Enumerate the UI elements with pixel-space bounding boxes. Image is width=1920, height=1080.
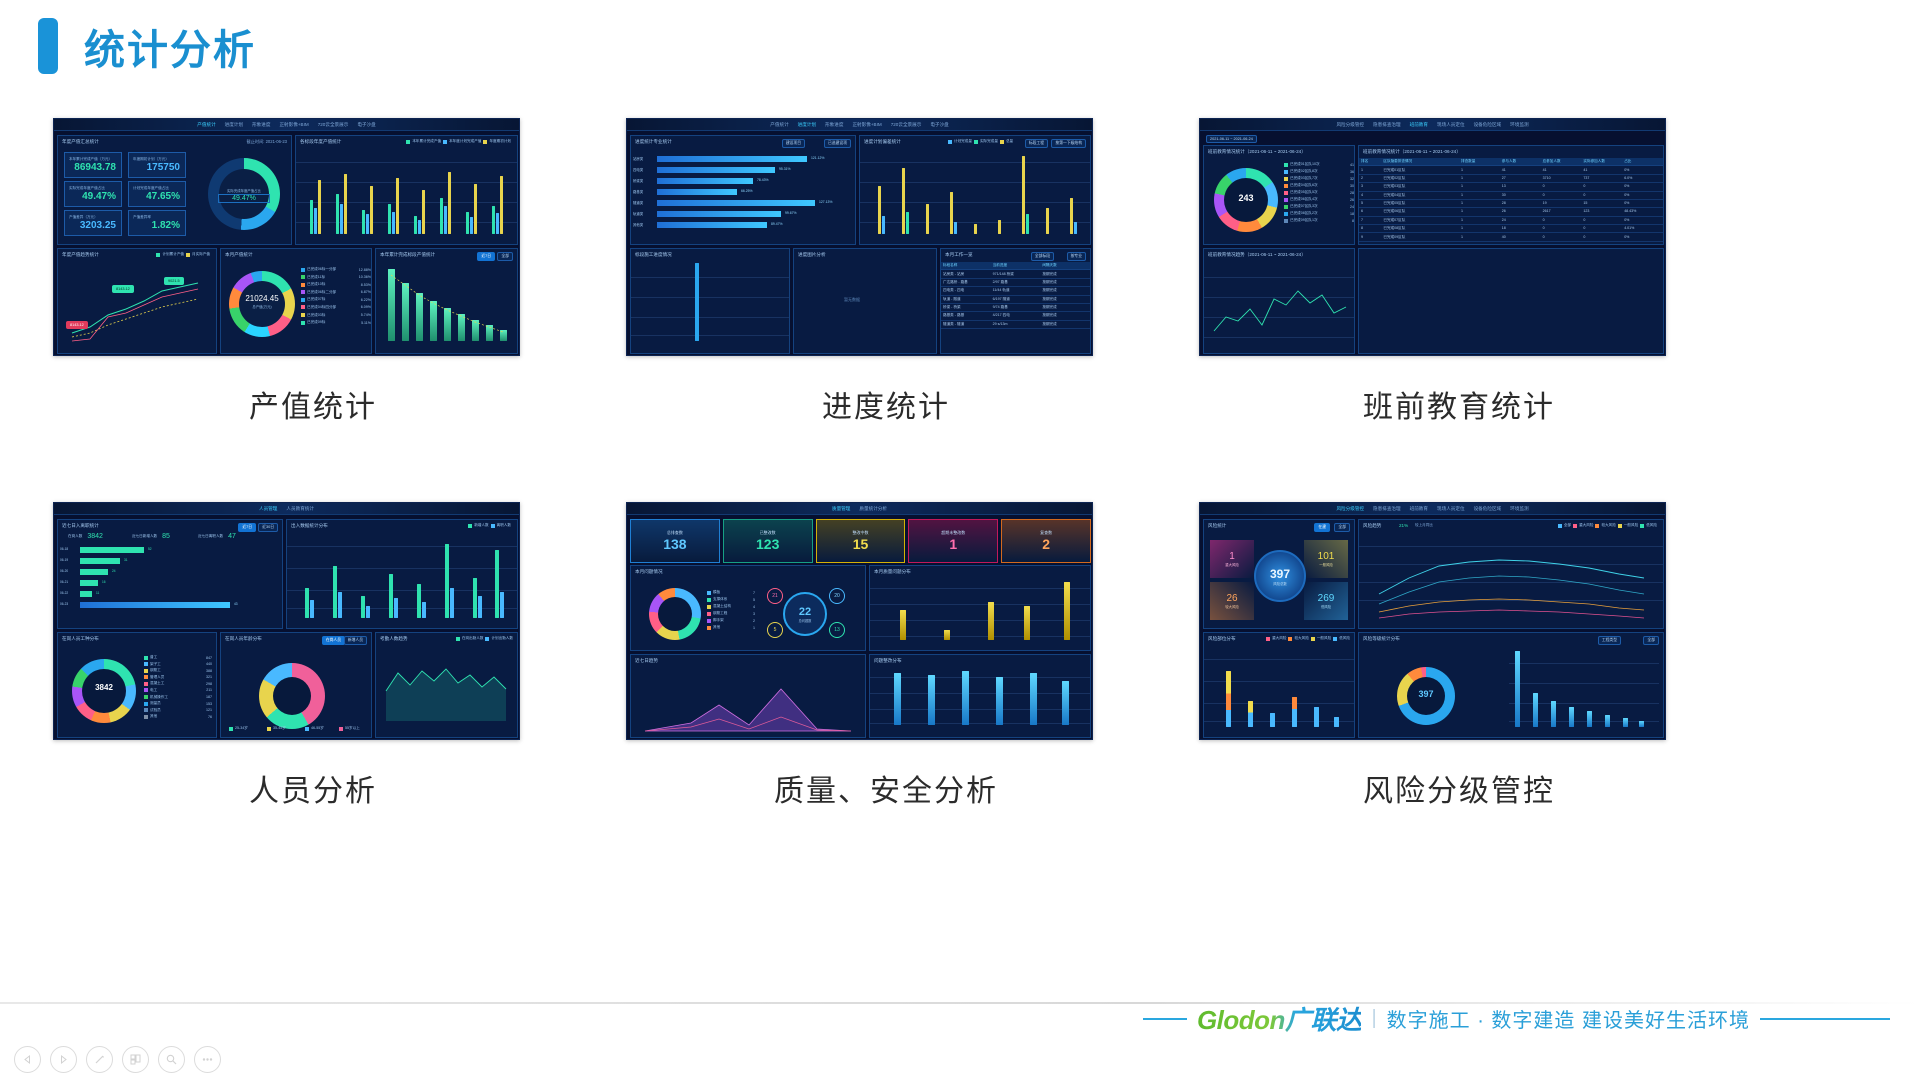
panel-subtitle: 截止时间: 2021-06-23: [247, 139, 288, 145]
panel-rectification: 问题整改分布: [869, 654, 1091, 738]
nav-item[interactable]: 质量统计分析: [859, 506, 887, 512]
nav-item[interactable]: 现场人员定位: [1437, 122, 1465, 128]
panel-education-table: 班前教育情况统计（2021-06-11 ~ 2021-06-24） 排名区队隐患…: [1358, 145, 1664, 245]
nav-item[interactable]: 720云全景展示: [318, 122, 349, 128]
panel-title: 各标段年度产值统计: [300, 139, 341, 145]
kpi-card: 产值差异（万元） 3203.25: [64, 210, 122, 236]
panel-title: 班前教育情况统计（2021-06-11 ~ 2021-06-24）: [1363, 149, 1461, 155]
panel-title: 在岗人员年龄分布: [225, 636, 262, 642]
panel-risk-position: 风险部位分布 重大风险较大风险一般风险低风险: [1203, 632, 1355, 738]
table-row: 广达路桥 - 路基2/97 路基按期完成: [941, 279, 1090, 287]
line-chart: [376, 651, 519, 731]
kpi-card: 总排查数 138: [630, 519, 720, 563]
thumbnail-risk-control[interactable]: 风险分级管控 隐患排查治理 班前教育 现场人员定位 设备危险区域 环境监测 风险…: [1199, 502, 1666, 740]
donut-label: 实际完成年度产值占比: [218, 188, 270, 193]
title-accent-bar: [38, 18, 58, 74]
nav-item[interactable]: 形象进度: [252, 122, 270, 128]
satellite-badge: 21: [767, 588, 783, 604]
date-range-picker[interactable]: 2021-06-11 ~ 2021-06-24: [1206, 135, 1257, 143]
panel-title: 出入数据统计分布: [291, 523, 328, 529]
panel-inout-distribution: 出入数据统计分布 新增人数离职人数: [286, 519, 518, 629]
nav-item[interactable]: 形象进度: [825, 122, 843, 128]
nav-item[interactable]: 班前教育: [1410, 506, 1428, 512]
card-caption: 进度统计: [626, 382, 1146, 426]
card-caption: 产值统计: [53, 382, 573, 426]
kpi-card: 整改中数 15: [816, 519, 906, 563]
panel-month-worklist: 本月工作一览 全部标段 按专业 标段名称当前进度间隔天数 站房类 - 站房971…: [940, 248, 1091, 354]
panel-issue-distribution: 本月质量问题分布: [869, 565, 1091, 651]
panel-title: 风险趋势: [1363, 523, 1381, 529]
bar-group: [386, 265, 514, 341]
page-title: 统计分析: [38, 16, 256, 76]
dashboard-row-1: 产值统计 进度计划 形象进度 正射影像+BIM 720云全景展示 电子沙盘 年度…: [0, 118, 1920, 426]
panel-title: 问题整改分布: [874, 658, 902, 664]
risk-block: 1 重大风险: [1210, 540, 1254, 578]
thumbnail-quality-safety[interactable]: 质量管理 质量统计分析 总排查数 138 已整改数 123 整改中数 15: [626, 502, 1093, 740]
panel-title: 风险部位分布: [1208, 636, 1236, 642]
nav-item[interactable]: 人员管理: [259, 506, 277, 512]
kpi-card: 已整改数 123: [723, 519, 813, 563]
panel-education-stats: 班前教育情况统计（2021-06-11 ~ 2021-06-24） 243 已完…: [1203, 145, 1355, 245]
legend-list: 已完成01区队10次41 已完成02区队8次36 已完成03区队7次32 已完成…: [1284, 162, 1354, 223]
panel-accumulated-output: 本年累计完成标段产值统计 近7日 全部: [375, 248, 518, 354]
filter-select[interactable]: 全部标段: [1031, 252, 1054, 261]
dash-nav[interactable]: 风险分级管控 隐患排查治理 班前教育 现场人员定位 设备危险区域 环境监测: [1200, 503, 1665, 515]
bar-group: [886, 667, 1084, 725]
filter-chip[interactable]: 新增人员: [344, 636, 367, 645]
filter-chip[interactable]: 近7日: [477, 252, 495, 261]
risk-block: 101 一般风险: [1304, 540, 1348, 578]
kpi-card-row: 总排查数 138 已整改数 123 整改中数 15 超期未整改数 1: [630, 519, 1091, 563]
panel-output-trend: 年度产值趋势统计 计划累计产值月实际产值 8143.12 8143.12 902…: [57, 248, 217, 354]
panel-title: 风险等级统计分布: [1363, 636, 1400, 642]
donut-hole: [658, 597, 692, 631]
donut-legend-list: 已完成06标一分部12.88% 已完成11标10.36% 已完成10标8.53%…: [301, 267, 371, 325]
panel-education-detail: [1358, 248, 1664, 354]
nav-item[interactable]: 环境监测: [1510, 506, 1528, 512]
table-row: 轨道 - 隧道6/197 隧道按期完成: [941, 296, 1090, 304]
nav-item[interactable]: 进度计划: [798, 122, 816, 128]
kpi-card: 年度期初计划（万元） 175750: [128, 152, 186, 178]
card-caption: 班前教育统计: [1199, 382, 1719, 426]
panel-title: 进度计划偏差统计: [864, 139, 901, 145]
bar-group: [884, 578, 1084, 640]
panel-progress-photos: 进度图片分析 暂无数据: [793, 248, 937, 354]
filter-chip[interactable]: 近30日: [258, 523, 278, 532]
panel-title: 本月工作一览: [945, 252, 973, 258]
nav-item[interactable]: 设备危险区域: [1474, 506, 1502, 512]
panel-progress-by-discipline: 进度统计专业统计 建设项目 已选建设项 站房类121.12% 四电类95.31%…: [630, 135, 856, 245]
card-risk-control[interactable]: 风险分级管控 隐患排查治理 班前教育 现场人员定位 设备危险区域 环境监测 风险…: [1199, 502, 1719, 810]
dash-nav[interactable]: 人员管理 人员教育统计: [54, 503, 519, 515]
panel-month-output: 本月产值统计 21024.45 总产值(万元) 已完成06标一分部12.88% …: [220, 248, 372, 354]
card-quality-safety[interactable]: 质量管理 质量统计分析 总排查数 138 已整改数 123 整改中数 15: [626, 502, 1146, 810]
nav-item[interactable]: 隐患排查治理: [1373, 506, 1401, 512]
panel-title: 标段施工进度情况: [635, 252, 672, 258]
nav-item[interactable]: 环境监测: [1510, 122, 1528, 128]
panel-age-distribution: 在岗人员年龄分布 在岗人员 新增人员 25-34岁 35-45岁 46-55岁 …: [220, 632, 372, 738]
table-row: 站房类 - 站房971/148 桥梁按期完成: [941, 270, 1090, 278]
card-caption: 质量、安全分析: [626, 766, 1146, 810]
thumbnail-progress[interactable]: 产值统计 进度计划 形象进度 正射影像+BIM 720云全景展示 电子沙盘 进度…: [626, 118, 1093, 356]
filter-select[interactable]: 工程类型: [1598, 636, 1621, 645]
kpi-card: 复查数 2: [1001, 519, 1091, 563]
filter-select[interactable]: 按专业: [1067, 252, 1086, 261]
legend-list: 模板7 支撑体系5 混凝土结构4 钢筋工程3 脚手架2 其他1: [707, 590, 755, 630]
panel-annual-output: 年度产值汇总统计 截止时间: 2021-06-23 本年累计完成产值（万元） 8…: [57, 135, 292, 245]
satellite-badge: 13: [829, 622, 845, 638]
grid-icon[interactable]: [122, 1046, 149, 1073]
education-table: 排名区队隐患排查情况排查数量参与人数应参加人数实际参加人数占比 1已完成01区队…: [1359, 158, 1663, 242]
thumbnail-output-value[interactable]: 产值统计 进度计划 形象进度 正射影像+BIM 720云全景展示 电子沙盘 年度…: [53, 118, 520, 356]
empty-state: 暂无数据: [844, 297, 860, 303]
line-chart: [1204, 269, 1356, 349]
kpi-card: 超期未整改数 1: [908, 519, 998, 563]
satellite-badge: 20: [829, 588, 845, 604]
table-row: 6已完成06区队126261712348.43%: [1359, 208, 1663, 216]
panel-title: 在岗人员工种分布: [62, 636, 99, 642]
panel-risk-level-distribution: 风险等级统计分布 工程类型 全部 397: [1358, 632, 1664, 738]
panel-title: 班前教育情况趋势（2021-06-11 ~ 2021-06-24）: [1208, 252, 1306, 258]
gauge: 22 总问题数: [783, 592, 827, 636]
footer-brand: Glodon广联达 | 数字施工 · 数字建造 建设美好生活环境: [1143, 1000, 1890, 1037]
bar-group: [299, 534, 513, 618]
filter-chip[interactable]: 在建: [1314, 523, 1330, 532]
panel-risk-trend: 风险趋势 21% 较上月同比 全部重大风险较大风险一般风险低风险: [1358, 519, 1664, 629]
nav-item[interactable]: 设备危险区域: [1474, 122, 1502, 128]
panel-title: 年度产值趋势统计: [62, 252, 99, 258]
panel-title: 班前教育情况统计（2021-06-11 ~ 2021-06-24）: [1208, 149, 1306, 155]
dash-nav[interactable]: 质量管理 质量统计分析: [627, 503, 1092, 515]
footer-dash-left: [1143, 1018, 1187, 1020]
nav-item[interactable]: 产值统计: [197, 122, 215, 128]
table-row: 路基类 - 路基4/217 四电按期完成: [941, 312, 1090, 320]
risk-block: 269 低风险: [1304, 582, 1348, 620]
nav-item[interactable]: 风险分级管控: [1336, 506, 1364, 512]
panel-education-trend: 班前教育情况趋势（2021-06-11 ~ 2021-06-24）: [1203, 248, 1355, 354]
nav-item[interactable]: 正射影像+BIM: [852, 122, 881, 128]
nav-item[interactable]: 电子沙盘: [930, 122, 948, 128]
panel-trade-distribution: 在岗人员工种分布 3842 普工847 架子工440 钢筋工388 管理人员32…: [57, 632, 217, 738]
panel-title: 考勤人数趋势: [380, 636, 408, 642]
panel-title: 本月产值统计: [225, 252, 253, 258]
donut-center-value: 21024.45: [229, 294, 295, 303]
table-row: 5已完成05区队12819150%: [1359, 200, 1663, 208]
panel-title: 本月问题情况: [635, 569, 663, 575]
donut-center-value: 397: [1397, 689, 1455, 699]
table-row: 桥梁 - 桥梁9/74 路基按期完成: [941, 304, 1090, 312]
bar-group: [874, 150, 1086, 234]
filter-select[interactable]: 按第一下级结构: [1051, 139, 1086, 148]
card-progress[interactable]: 产值统计 进度计划 形象进度 正射影像+BIM 720云全景展示 电子沙盘 进度…: [626, 118, 1146, 426]
card-caption: 人员分析: [53, 766, 573, 810]
pen-icon[interactable]: [86, 1046, 113, 1073]
dashboard-grid: 产值统计 进度计划 形象进度 正射影像+BIM 720云全景展示 电子沙盘 年度…: [0, 118, 1920, 810]
dash-nav[interactable]: 产值统计 进度计划 形象进度 正射影像+BIM 720云全景展示 电子沙盘: [627, 119, 1092, 131]
line-chart: [58, 267, 218, 347]
nav-item[interactable]: 现场人员定位: [1437, 506, 1465, 512]
panel-title: 进度图片分析: [798, 252, 826, 258]
nav-item[interactable]: 进度计划: [225, 122, 243, 128]
nav-item[interactable]: 班前教育: [1410, 122, 1428, 128]
donut-value: 49.47%: [218, 194, 270, 203]
trend-tag: 8143.12: [66, 321, 88, 329]
footer-dash-right: [1760, 1018, 1890, 1020]
kpi-card: 计划完成年度产值占比 47.65%: [128, 181, 186, 207]
hbar-group: 站房类121.12% 四电类95.31% 桥梁类78.43% 路基类66.25%…: [657, 154, 853, 231]
card-preshift-education[interactable]: 风险分级管控 隐患排查治理 班前教育 现场人员定位 设备危险区域 环境监测 20…: [1199, 118, 1719, 426]
nav-item[interactable]: 正射影像+BIM: [279, 122, 308, 128]
kpi-card: 实际完成年度产值占比 49.47%: [64, 181, 122, 207]
satellite-badge: 5: [767, 622, 783, 638]
more-options-icon[interactable]: [194, 1046, 221, 1073]
donut-center-value: 243: [1214, 193, 1278, 203]
filter-chip[interactable]: 在岗人员: [322, 636, 345, 645]
panel-title: 本月质量问题分布: [874, 569, 911, 575]
panel-segment-progress: 标段施工进度情况: [630, 248, 790, 354]
panel-title: 年度产值汇总统计: [62, 139, 99, 145]
donut-hole: [273, 677, 311, 715]
card-personnel[interactable]: 人员管理 人员教育统计 近七日入离职统计 近7日 近30日 在岗人数3842 近…: [53, 502, 573, 810]
nav-item[interactable]: 风险分级管控: [1336, 122, 1364, 128]
panel-title: 进度统计专业统计: [635, 139, 672, 145]
panel-title: 本年累计完成标段产值统计: [380, 252, 435, 258]
nav-item[interactable]: 电子沙盘: [357, 122, 375, 128]
bar-group: [304, 152, 514, 234]
table-row: 8已完成08区队118004.01%: [1359, 225, 1663, 233]
panel-risk-stats: 风险统计 在建 全部 1 重大风险 101 一般风险 26 较大风险: [1203, 519, 1355, 629]
panel-title: 风险统计: [1208, 523, 1226, 529]
table-row: 1已完成01区队14141410%: [1359, 166, 1663, 174]
panel-title: 近七日趋势: [635, 658, 658, 664]
filter-select[interactable]: 建设项目: [782, 139, 805, 148]
nav-item[interactable]: 720云全景展示: [891, 122, 922, 128]
trend-tag: 9021.5: [164, 277, 184, 285]
thumbnail-preshift-education[interactable]: 风险分级管控 隐患排查治理 班前教育 现场人员定位 设备危险区域 环境监测 20…: [1199, 118, 1666, 356]
kpi-card: 本年累计完成产值（万元） 86943.78: [64, 152, 122, 178]
glodon-logo: Glodon广联达: [1197, 1000, 1362, 1037]
filter-chip[interactable]: 全部: [1334, 523, 1350, 532]
kpi-card: 产值差异率 1.82%: [128, 210, 186, 236]
panel-7day-trend: 近七日趋势: [630, 654, 866, 738]
panel-attendance-trend: 考勤人数趋势 在岗出勤人数计划出勤人数: [375, 632, 518, 738]
dashboard-row-2: 人员管理 人员教育统计 近七日入离职统计 近7日 近30日 在岗人数3842 近…: [0, 502, 1920, 810]
panel-month-issues: 本月问题情况 模板7 支撑体系5 混凝土结构4 钢筋工程3 脚手架2 其他1 2…: [630, 565, 866, 651]
filter-select[interactable]: 已选建设项: [824, 139, 851, 148]
filter-chip[interactable]: 近7日: [238, 523, 256, 532]
nav-item[interactable]: 质量管理: [832, 506, 850, 512]
table-row: 4已完成04区队130000%: [1359, 192, 1663, 200]
legend-list: 普工847 架子工440 钢筋工388 管理人员321 混凝土工298 电工21…: [144, 655, 212, 719]
donut-center-label: 总产值(万元): [229, 304, 295, 309]
search-icon[interactable]: [158, 1046, 185, 1073]
trend-badge: 21%: [1399, 523, 1408, 528]
footer-separator: |: [1371, 1007, 1376, 1030]
filter-select[interactable]: 全部: [1643, 636, 1659, 645]
filter-select[interactable]: 标段工程: [1025, 139, 1048, 148]
table-row: 2已完成02区队12737107376.0%: [1359, 175, 1663, 183]
bar-group: [1216, 645, 1352, 727]
prev-slide-icon[interactable]: [14, 1046, 41, 1073]
next-slide-icon[interactable]: [50, 1046, 77, 1073]
hbar-group: 06-1852 06-1931 06-2024 06-2116 06-2211 …: [80, 546, 280, 612]
filter-chip[interactable]: 全部: [497, 252, 513, 261]
card-output-value[interactable]: 产值统计 进度计划 形象进度 正射影像+BIM 720云全景展示 电子沙盘 年度…: [53, 118, 573, 426]
dash-nav[interactable]: 产值统计 进度计划 形象进度 正射影像+BIM 720云全景展示 电子沙盘: [54, 119, 519, 131]
table-row: 3已完成03区队113000%: [1359, 183, 1663, 191]
gauge: 397 风险总数: [1254, 550, 1306, 602]
table-row: 隧道类 - 隧道29 s/13m按期完成: [941, 321, 1090, 329]
bottom-toolbar[interactable]: [14, 1046, 221, 1073]
table-row: 7已完成07区队124000%: [1359, 217, 1663, 225]
area-chart: [631, 671, 867, 737]
nav-item[interactable]: 人员教育统计: [286, 506, 314, 512]
trend-tag: 8143.12: [112, 285, 134, 293]
footer-slogan: 数字施工 · 数字建造 建设美好生活环境: [1387, 1004, 1750, 1033]
nav-item[interactable]: 隐患排查治理: [1373, 122, 1401, 128]
table-row: 四电类 - 四电11/44 轨道按期完成: [941, 287, 1090, 295]
panel-entry-exit: 近七日入离职统计 近7日 近30日 在岗人数3842 近七日新增人数85 近七日…: [57, 519, 283, 629]
table-row: 9已完成09区队140000%: [1359, 233, 1663, 241]
work-table: 标段名称当前进度间隔天数 站房类 - 站房971/148 桥梁按期完成 广达路桥…: [941, 262, 1090, 329]
panel-title: 近七日入离职统计: [62, 523, 99, 529]
bar-group: [1511, 645, 1657, 727]
donut-center-value: 3842: [72, 683, 136, 692]
risk-block: 26 较大风险: [1210, 582, 1254, 620]
title-text: 统计分析: [84, 16, 256, 76]
panel-progress-deviation: 进度计划偏差统计 计划完成量实际完成量总量 标段工程 按第一下级结构: [859, 135, 1091, 245]
panel-segment-output: 各标段年度产值统计 本年累计完成产值本年度计划完成产值年度期初计划: [295, 135, 518, 245]
card-caption: 风险分级管控: [1199, 766, 1719, 810]
nav-item[interactable]: 产值统计: [770, 122, 788, 128]
dash-nav[interactable]: 风险分级管控 隐患排查治理 班前教育 现场人员定位 设备危险区域 环境监测: [1200, 119, 1665, 131]
multi-line-chart: [1359, 534, 1665, 626]
thumbnail-personnel[interactable]: 人员管理 人员教育统计 近七日入离职统计 近7日 近30日 在岗人数3842 近…: [53, 502, 520, 740]
